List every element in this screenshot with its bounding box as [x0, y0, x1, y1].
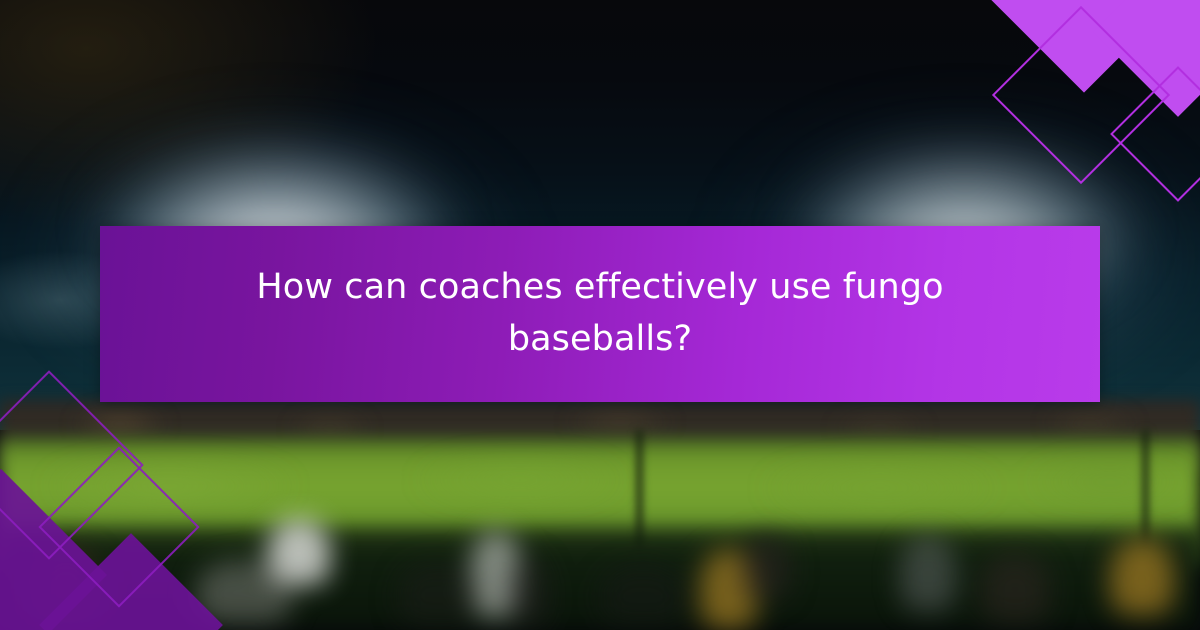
crowd-figure [196, 561, 292, 623]
crowd-figure [1110, 539, 1174, 615]
title-banner: How can coaches effectively use fungo ba… [100, 226, 1100, 402]
foreground-crowd-figures [0, 505, 1200, 630]
crowd-figure [30, 545, 102, 625]
crowd-figure [508, 557, 548, 627]
crowd-figure [600, 565, 686, 625]
crowd-figure [900, 535, 956, 611]
crowd-figure [980, 553, 1050, 623]
crowd-figure [742, 535, 790, 599]
social-card: How can coaches effectively use fungo ba… [0, 0, 1200, 630]
crowd-figure [398, 563, 478, 625]
page-title: How can coaches effectively use fungo ba… [220, 262, 980, 366]
